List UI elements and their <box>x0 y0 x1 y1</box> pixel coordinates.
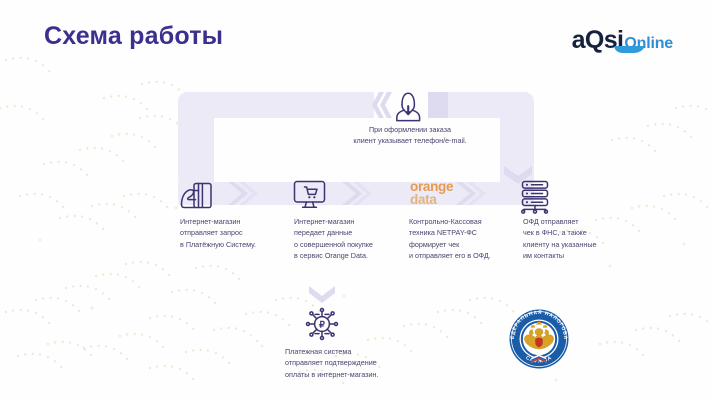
step-2-text: Интернет-магазин передает данные о совер… <box>294 216 412 262</box>
process-flow-diagram: ₽ <box>0 0 711 400</box>
band-person-right-pad <box>428 92 448 118</box>
chevron-down-to-payment-icon <box>309 286 335 303</box>
payment-network-icon: ₽ <box>307 309 338 340</box>
step-4-text: ОФД отправляет чек в ФНС, а также клиент… <box>523 216 639 262</box>
slide-canvas: Схема работы aQsi Online <box>0 0 711 400</box>
band-top-right-segment <box>448 92 456 118</box>
orange-data-line2: data <box>410 193 453 206</box>
orange-data-logo: orange data <box>410 180 453 206</box>
step-5-text: Платежная система отправляет подтвержден… <box>285 346 415 380</box>
person-download-icon <box>397 93 420 120</box>
client-note-text: При оформлении заказа клиент указывает т… <box>300 124 520 146</box>
step-3-text: Контрольно-Кассовая техника NETPAY-ФС фо… <box>409 216 529 262</box>
svg-text:₽: ₽ <box>319 320 325 330</box>
step-1-text: Интернет-магазин отправляет запрос в Пла… <box>180 216 292 250</box>
fns-emblem-icon: ФЕДЕРАЛЬНАЯ НАЛОГОВАЯ СЛУЖБА <box>505 304 569 370</box>
